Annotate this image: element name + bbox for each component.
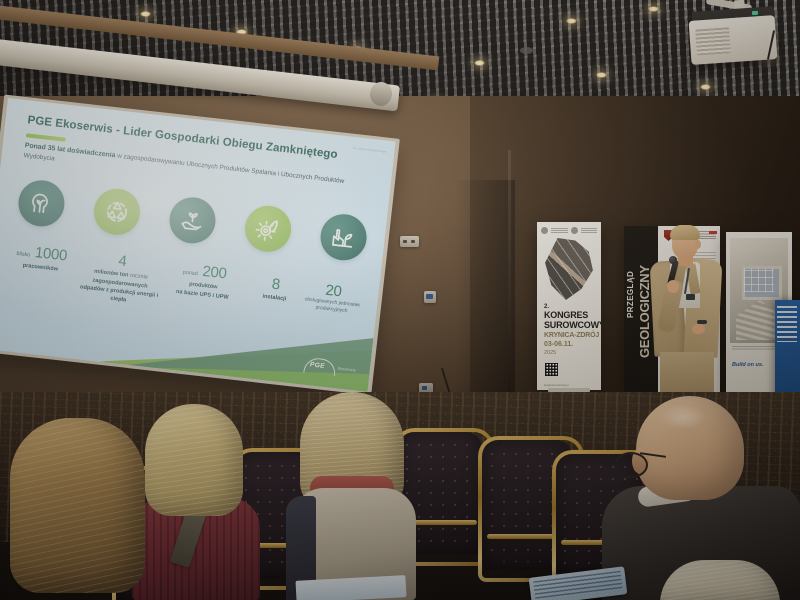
architecture-stairs [736,300,776,340]
conference-room-photo: PGE Ekoserwis - Lider Gospodarki Obiegu … [0,0,800,600]
downlight [140,11,151,17]
blue-banner-text [777,306,797,342]
stat-item: blisko 1000 pracowników [3,241,80,276]
banner-vertical-title-1: PRZEGLĄD [626,271,635,318]
stat-number: 200 [202,263,228,283]
speaker-hand [667,280,679,293]
projector-vent [695,27,731,55]
slide-subtitle-rest: w zagospodarowywaniu Ubocznych Produktów… [23,152,344,185]
speaker-hair [670,225,700,240]
banner-dates: 03-06.11. [544,341,573,348]
pge-logo-mark: PGE [303,357,334,375]
speaker-hand-lower [692,324,705,334]
downlight [566,18,577,24]
stat-item: 20 obsługiwanych jednostek produkcyjnych [302,280,363,317]
title-underline-rule [26,133,66,141]
stat-label-light: rocznie [128,272,148,280]
pge-brand-text: PGE [310,361,326,370]
ceiling-projector [689,15,778,65]
stat-label: pracowników [3,260,77,276]
banner-partner-logos [541,225,597,235]
head-leaf-icon [16,178,67,229]
speaker [648,228,722,403]
banner-kongres-surowcowy: 2. KONGRES SUROWCOWY KRYNICA-ZDRÓJ 03-06… [537,222,601,390]
stat-prefix: ponad [182,270,198,278]
banner-title-line2: SUROWCOWY [544,321,601,330]
banner-collage-lines [543,238,595,300]
downlight [700,84,711,90]
audience-member-hair-strands [10,418,145,593]
banner-tagline: Build on us. [732,362,763,368]
partner-logo-icon [571,227,578,234]
banner-year: 2025 [544,350,556,356]
glasses-icon [614,452,648,478]
recycling-leaves-icon [92,186,143,237]
pge-unit-text: Ekoserwis [338,366,357,372]
downlight [648,6,659,12]
qr-code-icon [545,363,558,376]
microphone-head-icon [669,256,677,264]
partner-logo-icon [541,227,548,234]
banner-footer-url: kongressurowcowy.pl [544,384,569,387]
stat-number: 1000 [34,244,68,264]
tablet-screen-content [533,571,623,600]
projection-screen: PGE Ekoserwis - Lider Gospodarki Obiegu … [0,98,396,392]
architecture-window-grid [744,268,774,292]
hand-sprout-icon [167,195,218,246]
stat-prefix: blisko [16,251,30,259]
audience-member-head-highlight [660,404,706,430]
stat-item: 4 milionów ton rocznie zagospodarowanych… [78,249,163,308]
factory-leaf-icon [318,212,369,263]
projector-led-icon [752,11,758,15]
smoke-detector-icon [520,47,533,54]
banner-location: KRYNICA-ZDRÓJ [544,332,599,339]
partner-logo-text [581,228,598,233]
speaker-ear [695,240,701,249]
speaker-badge [686,294,695,300]
downlight [474,60,485,66]
downlight [596,72,607,78]
presentation-slide: PGE Ekoserwis - Lider Gospodarki Obiegu … [0,98,396,392]
stat-item: 8 instalacji [247,274,303,305]
partner-logo-text [551,228,568,233]
audience-member-hair-strands [145,404,243,516]
gear-leaf-icon [243,203,294,254]
stat-item: ponad 200 produktów na bazie UPS i UPW [163,259,245,304]
speaker-watch [697,320,707,324]
